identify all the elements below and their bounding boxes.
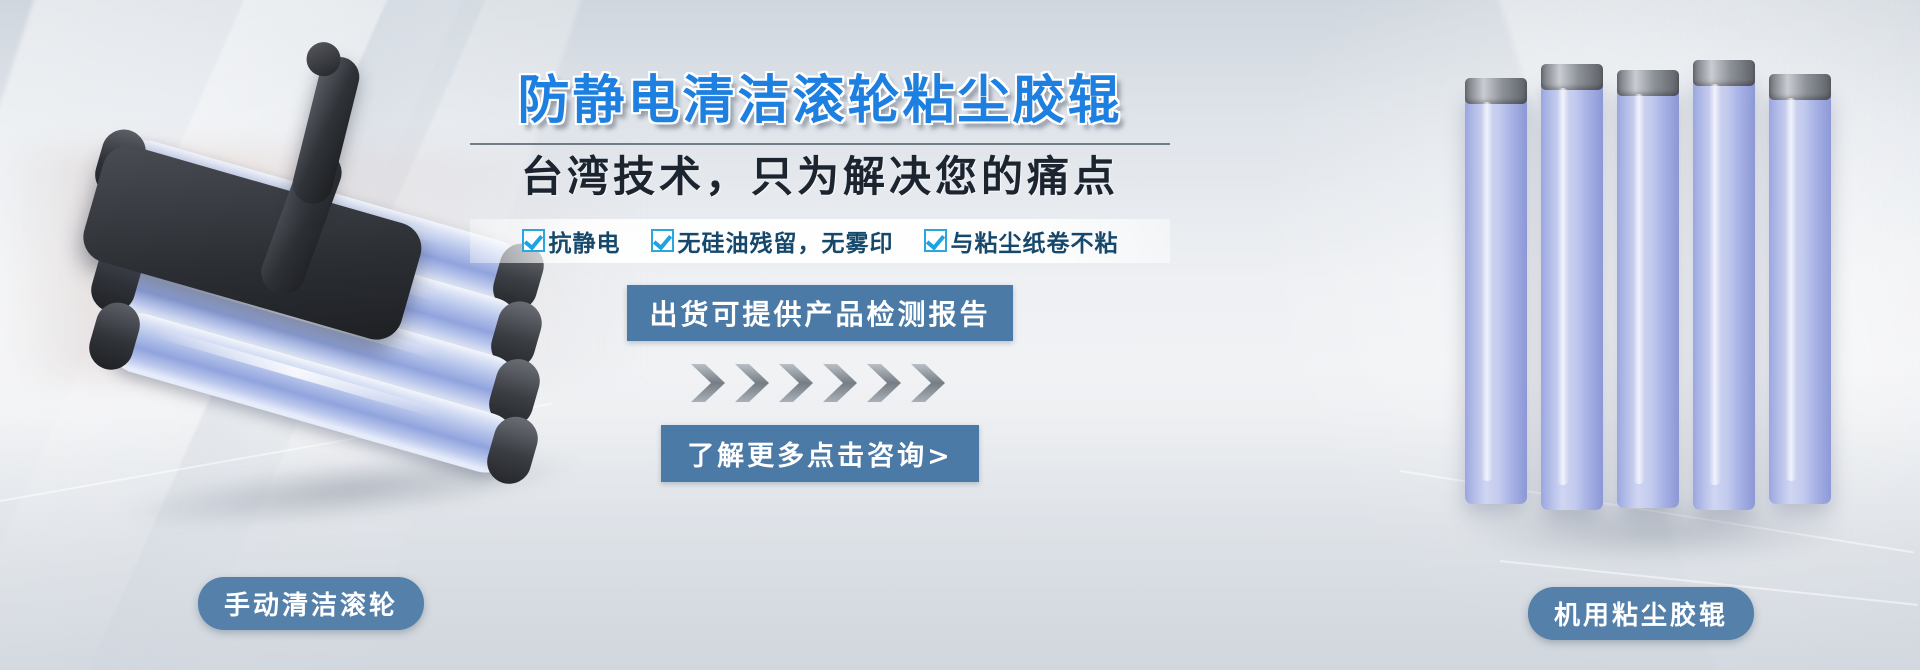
- promo-banner: 防静电清洁滚轮粘尘胶辊 台湾技术，只为解决您的痛点 抗静电 无硅油残留，无雾印 …: [0, 0, 1920, 670]
- checkbox-checked-icon: [924, 229, 947, 252]
- machine-roller: [1617, 84, 1679, 508]
- chevron-arrow-group: [689, 361, 951, 405]
- banner-subtitle: 台湾技术，只为解决您的痛点: [521, 153, 1119, 201]
- machine-roller: [1541, 78, 1603, 510]
- feature-item: 抗静电: [522, 224, 621, 258]
- feature-label: 无硅油残留，无雾印: [678, 224, 894, 258]
- machine-roller: [1465, 92, 1527, 504]
- checkbox-checked-icon: [651, 229, 674, 252]
- machine-roller: [1769, 88, 1831, 504]
- feature-label: 抗静电: [549, 224, 621, 258]
- chevron-right-icon: [689, 361, 731, 405]
- machine-roller: [1693, 74, 1755, 510]
- chevron-right-icon: [821, 361, 863, 405]
- right-product-shadow: [1455, 500, 1855, 564]
- checkbox-checked-icon: [522, 229, 545, 252]
- feature-item: 与粘尘纸卷不粘: [924, 224, 1119, 258]
- chevron-right-icon: [865, 361, 907, 405]
- title-divider: [470, 143, 1170, 145]
- chevron-right-icon: [777, 361, 819, 405]
- feature-label: 与粘尘纸卷不粘: [951, 224, 1119, 258]
- machine-roller-product-image: [1465, 60, 1865, 560]
- feature-item: 无硅油残留，无雾印: [651, 224, 894, 258]
- left-product-label: 手动清洁滚轮: [198, 577, 424, 630]
- chevron-right-icon: [909, 361, 951, 405]
- report-badge: 出货可提供产品检测报告: [627, 285, 1012, 341]
- banner-text-block: 防静电清洁滚轮粘尘胶辊 台湾技术，只为解决您的痛点 抗静电 无硅油残留，无雾印 …: [440, 74, 1200, 482]
- banner-main-title: 防静电清洁滚轮粘尘胶辊: [517, 74, 1122, 129]
- consult-cta-button[interactable]: 了解更多点击咨询>: [661, 425, 979, 482]
- feature-list: 抗静电 无硅油残留，无雾印 与粘尘纸卷不粘: [470, 219, 1170, 263]
- chevron-right-icon: [733, 361, 775, 405]
- right-product-label: 机用粘尘胶辊: [1528, 587, 1754, 640]
